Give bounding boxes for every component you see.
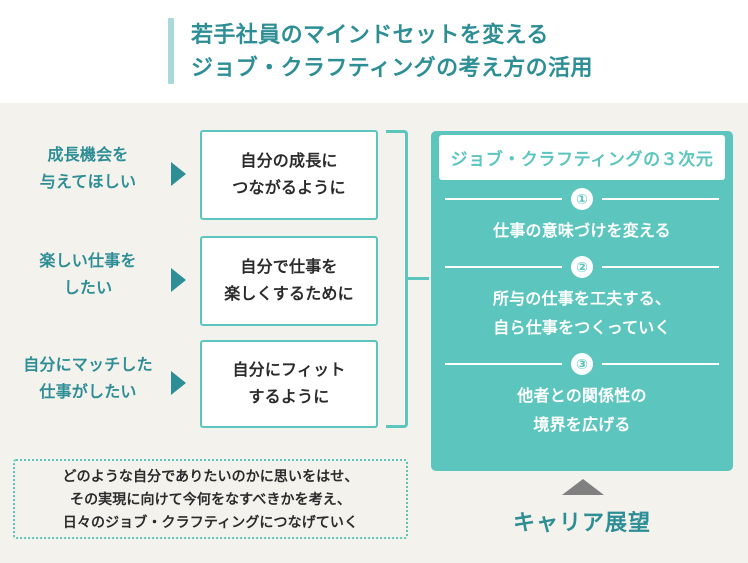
- bracket-stem: [405, 277, 429, 280]
- title-line-1: 若手社員のマインドセットを変える: [191, 18, 593, 51]
- separator-line-left-2: [445, 363, 562, 365]
- dimension-text-1-line-2: 自ら仕事をつくっていく: [445, 314, 719, 343]
- dimension-list: ① 仕事の意味づけを変える ② 所与の仕事を工夫する、 自ら仕事をつくっていく …: [431, 186, 733, 448]
- need-item-2-line-1: 自分にマッチした: [2, 352, 174, 379]
- note-line-3: 日々のジョブ・クラフティングにつなげていく: [63, 511, 358, 534]
- need-item-0-line-1: 成長機会を: [8, 142, 168, 169]
- career-outlook-label: キャリア展望: [431, 505, 733, 537]
- title-lines: 若手社員のマインドセットを変える ジョブ・クラフティングの考え方の活用: [191, 18, 593, 84]
- page-title: 若手社員のマインドセットを変える ジョブ・クラフティングの考え方の活用: [168, 18, 593, 84]
- dimension-text-0: 仕事の意味づけを変える: [445, 212, 719, 254]
- dimension-number-2: ③: [571, 353, 593, 375]
- need-item-1-line-2: したい: [8, 275, 168, 302]
- up-triangle-icon: [562, 479, 604, 495]
- response-box-1: 自分で仕事を 楽しくするために: [200, 236, 378, 326]
- response-box-1-line-2: 楽しくするために: [224, 281, 354, 308]
- separator-line-right-1: [602, 266, 719, 268]
- right-triangle-icon-1: [171, 268, 186, 292]
- dimension-item-2: ③ 他者との関係性の 境界を広げる: [431, 351, 733, 448]
- response-box-2-text: 自分にフィット するように: [232, 357, 345, 411]
- response-box-0-text: 自分の成長に つながるように: [232, 148, 345, 202]
- response-box-0: 自分の成長に つながるように: [200, 130, 378, 220]
- response-box-2-line-1: 自分にフィット: [232, 357, 345, 384]
- job-crafting-panel: ジョブ・クラフティングの３次元 ① 仕事の意味づけを変える ② 所与の仕事を工夫…: [431, 131, 733, 471]
- dimension-text-2-line-1: 他者との関係性の: [445, 382, 719, 411]
- note-line-2: その実現に向けて今何をなすべきかを考え、: [70, 488, 351, 511]
- right-triangle-icon-0: [171, 162, 186, 186]
- dimension-text-2-line-2: 境界を広げる: [445, 411, 719, 440]
- dimension-separator-1: ②: [445, 254, 719, 280]
- need-item-1: 楽しい仕事を したい: [8, 248, 168, 302]
- need-item-2-line-2: 仕事がしたい: [2, 379, 174, 406]
- panel-header: ジョブ・クラフティングの３次元: [439, 135, 725, 180]
- separator-line-right-2: [602, 363, 719, 365]
- need-item-1-line-1: 楽しい仕事を: [8, 248, 168, 275]
- response-box-0-line-1: 自分の成長に: [232, 148, 345, 175]
- response-box-1-text: 自分で仕事を 楽しくするために: [224, 254, 354, 308]
- dimension-item-0: ① 仕事の意味づけを変える: [431, 186, 733, 254]
- panel-header-text: ジョブ・クラフティングの３次元: [451, 145, 714, 170]
- need-item-2: 自分にマッチした 仕事がしたい: [2, 352, 174, 406]
- response-box-2: 自分にフィット するように: [200, 340, 378, 428]
- title-line-2: ジョブ・クラフティングの考え方の活用: [191, 51, 593, 84]
- dimension-text-1-line-1: 所与の仕事を工夫する、: [445, 285, 719, 314]
- separator-line-left-1: [445, 266, 562, 268]
- separator-line-right-0: [602, 198, 719, 200]
- need-item-0-line-2: 与えてほしい: [8, 169, 168, 196]
- title-accent-bar: [168, 18, 174, 84]
- dimension-separator-0: ①: [445, 186, 719, 212]
- note-box: どのような自分でありたいのかに思いをはせ、 その実現に向けて今何をなすべきかを考…: [13, 459, 408, 539]
- dimension-text-1: 所与の仕事を工夫する、 自ら仕事をつくっていく: [445, 280, 719, 351]
- dimension-number-0: ①: [571, 188, 593, 210]
- separator-line-left-0: [445, 198, 562, 200]
- right-triangle-icon-2: [171, 371, 186, 395]
- dimension-text-2: 他者との関係性の 境界を広げる: [445, 377, 719, 448]
- dimension-separator-2: ③: [445, 351, 719, 377]
- need-item-0: 成長機会を 与えてほしい: [8, 142, 168, 196]
- response-box-0-line-2: つながるように: [232, 175, 345, 202]
- response-box-2-line-2: するように: [232, 384, 345, 411]
- dimension-text-0-line-1: 仕事の意味づけを変える: [445, 217, 719, 246]
- response-box-1-line-1: 自分で仕事を: [224, 254, 354, 281]
- dimension-number-1: ②: [571, 256, 593, 278]
- note-line-1: どのような自分でありたいのかに思いをはせ、: [63, 465, 359, 488]
- dimension-item-1: ② 所与の仕事を工夫する、 自ら仕事をつくっていく: [431, 254, 733, 351]
